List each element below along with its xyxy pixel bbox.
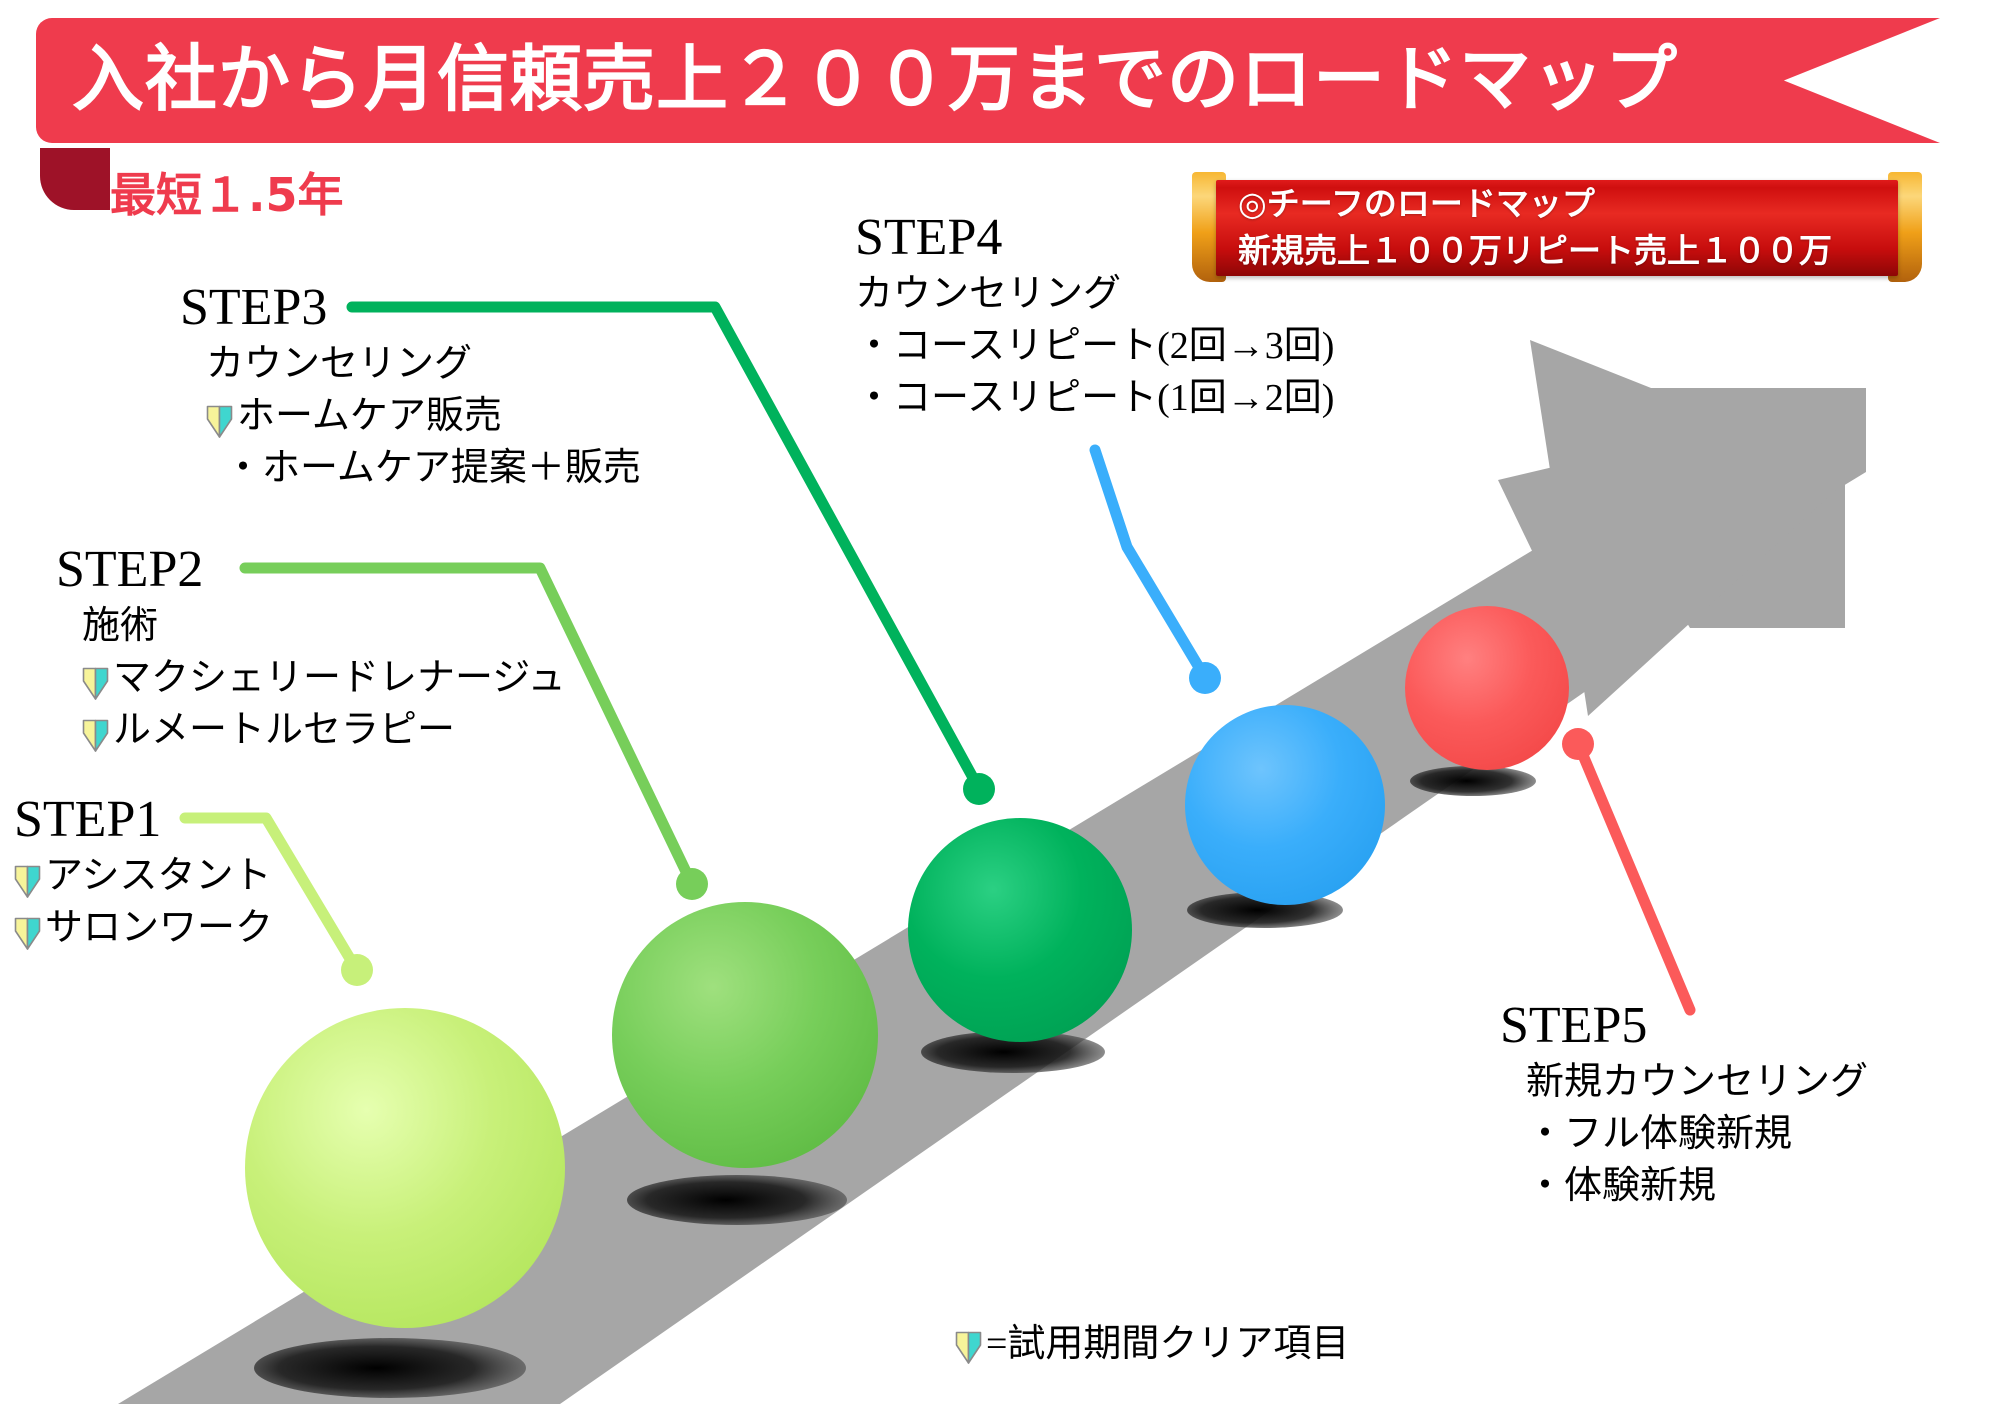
beginner-badge-icon: [82, 715, 109, 749]
step-title-step1: STEP1: [14, 790, 273, 850]
step-block-step4: STEP4カウンセリング・コースリピート(2回→3回)・コースリピート(1回→2…: [855, 208, 1334, 424]
subtitle: 最短１.5年: [110, 167, 343, 223]
step-line-step5-1: 新規カウンセリング: [1500, 1056, 1868, 1108]
step-line-label: 施術: [82, 600, 158, 652]
step-line-step4-2: ・コースリピート(2回→3回): [855, 320, 1334, 372]
step-line-label: ・ホームケア提案＋販売: [224, 442, 641, 494]
ribbon-text: ◎チーフのロードマップ 新規売上１００万リピート売上１００万: [1238, 180, 1928, 274]
step-block-step5: STEP5新規カウンセリング・フル体験新規・体験新規: [1500, 996, 1868, 1212]
step-line-label: 新規カウンセリング: [1526, 1056, 1868, 1108]
step-line-step3-1: カウンセリング: [180, 338, 641, 390]
step-line-step5-3: ・体験新規: [1500, 1160, 1868, 1212]
ribbon-line-1: ◎チーフのロードマップ: [1238, 180, 1928, 227]
step-line-step5-2: ・フル体験新規: [1500, 1108, 1868, 1160]
step-line-step3-3: ・ホームケア提案＋販売: [180, 442, 641, 494]
step-title-step5: STEP5: [1500, 996, 1868, 1056]
step-line-label: サロンワーク: [45, 902, 273, 954]
beginner-badge-icon: [82, 663, 109, 697]
shadow-step2: [627, 1175, 847, 1225]
step-line-step3-2: ホームケア販売: [180, 390, 641, 442]
step-line-step4-1: カウンセリング: [855, 268, 1334, 320]
title-banner-fold: [40, 148, 110, 210]
beginner-badge-icon: [14, 913, 41, 947]
step-line-label: ・コースリピート(2回→3回): [855, 320, 1334, 372]
step-title-step2: STEP2: [56, 540, 566, 600]
step-line-label: カウンセリング: [855, 268, 1121, 320]
step-line-label: アシスタント: [45, 850, 271, 902]
sphere-step3: [908, 818, 1132, 1042]
beginner-badge-icon: [955, 1329, 982, 1363]
step-block-step2: STEP2施術マクシェリードレナージュルメートルセラピー: [56, 540, 566, 756]
shadow-step5: [1410, 766, 1536, 796]
sphere-step2: [612, 902, 878, 1168]
step-line-step4-3: ・コースリピート(1回→2回): [855, 372, 1334, 424]
legend: =試用期間クリア項目: [955, 1320, 1349, 1368]
step-line-label: カウンセリング: [206, 338, 472, 390]
sphere-step5: [1405, 606, 1569, 770]
step-line-label: ・体験新規: [1526, 1160, 1716, 1212]
roadmap-infographic: 入社から月信頼売上２００万までのロードマップ 最短１.5年 ◎チーフのロードマッ…: [0, 0, 2000, 1414]
step-line-label: ルメートルセラピー: [113, 704, 455, 756]
sphere-step1: [245, 1008, 565, 1328]
page-title: 入社から月信頼売上２００万までのロードマップ: [72, 27, 1832, 131]
step-line-label: ・コースリピート(1回→2回): [855, 372, 1334, 424]
step-line-step2-1: 施術: [56, 600, 566, 652]
step-line-step2-3: ルメートルセラピー: [56, 704, 566, 756]
step-title-step3: STEP3: [180, 278, 641, 338]
step-line-step2-2: マクシェリードレナージュ: [56, 652, 566, 704]
step-line-label: マクシェリードレナージュ: [113, 652, 566, 704]
beginner-badge-icon: [206, 401, 233, 435]
beginner-badge-icon: [14, 861, 41, 895]
step-title-step4: STEP4: [855, 208, 1334, 268]
step-line-label: ホームケア販売: [237, 390, 502, 442]
sphere-step4: [1185, 705, 1385, 905]
step-line-step1-2: サロンワーク: [14, 902, 273, 954]
step-line-label: ・フル体験新規: [1526, 1108, 1792, 1160]
step-line-step1-1: アシスタント: [14, 850, 273, 902]
step-block-step3: STEP3カウンセリングホームケア販売・ホームケア提案＋販売: [180, 278, 641, 494]
shadow-step1: [254, 1338, 526, 1398]
legend-label: =試用期間クリア項目: [986, 1320, 1349, 1368]
step-block-step1: STEP1アシスタントサロンワーク: [14, 790, 273, 954]
ribbon-line-2: 新規売上１００万リピート売上１００万: [1238, 227, 1928, 274]
